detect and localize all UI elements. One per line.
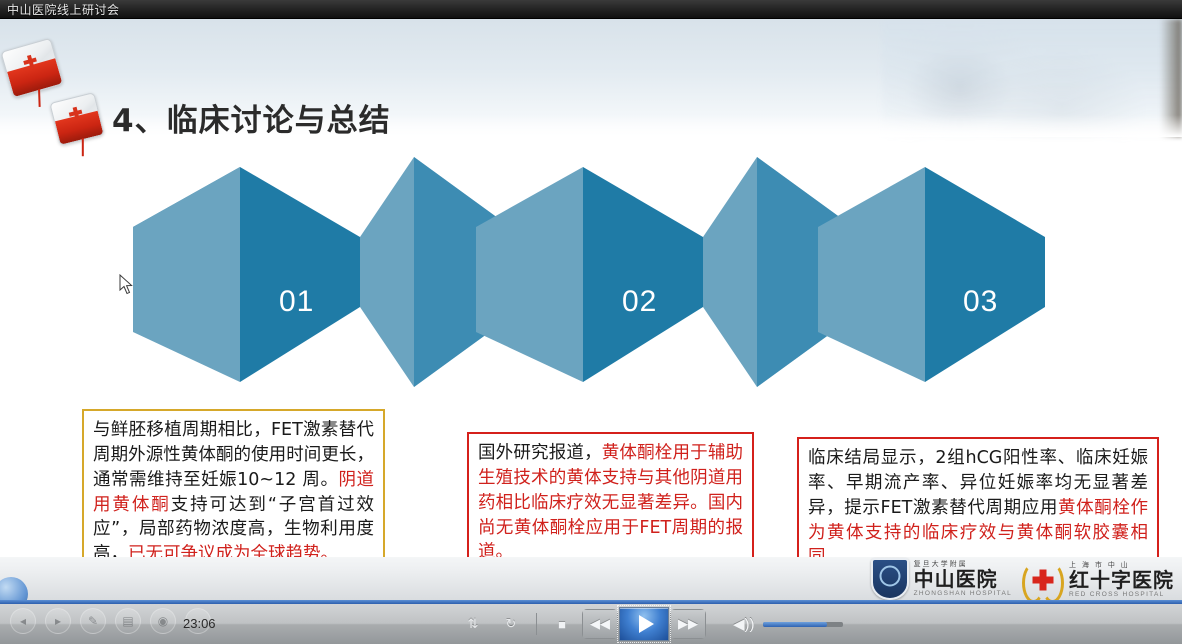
chevron-number-03: 03: [963, 285, 998, 319]
player-left-buttons: ◂ ▸ ✎ ▤ ◉: [10, 608, 211, 634]
header-photo-edge: [1160, 19, 1182, 137]
transport-group: ◀◀: [582, 609, 618, 639]
forward-icon[interactable]: ▸: [45, 608, 71, 634]
volume-slider-fill: [763, 622, 827, 627]
media-player-window: 中山医院线上研讨会 4、临床讨论与总结: [0, 0, 1182, 644]
playback-time: 23:06: [183, 616, 216, 631]
chevron-ribbon-graphic: 01 02 03: [0, 137, 1182, 387]
record-icon[interactable]: ◉: [150, 608, 176, 634]
wreath-icon: [1022, 560, 1064, 600]
slide-title: 4、临床讨论与总结: [112, 95, 391, 140]
player-toolbar: ◂ ▸ ✎ ▤ ◉ 23:06 ⇅ ↻ ■ ◀◀ ▶▶ ◀)): [0, 604, 1182, 644]
window-title: 中山医院线上研讨会: [0, 1, 120, 18]
shuffle-icon[interactable]: ⇅: [455, 609, 491, 639]
logo-2-main: 红十字医院: [1069, 570, 1174, 590]
chevron-2-left-wing: [476, 167, 583, 382]
logo-2-sub: RED CROSS HOSPITAL: [1069, 592, 1174, 599]
transport-group-right: ▶▶: [670, 609, 706, 639]
rewind-button[interactable]: ◀◀: [582, 609, 618, 639]
toolbar-divider: [536, 613, 537, 635]
header-background-photo: [882, 19, 1182, 137]
chevron-number-01: 01: [279, 285, 314, 319]
window-title-bar: 中山医院线上研讨会: [0, 0, 1182, 19]
red-cross-icon: [1033, 570, 1054, 591]
chevron-2-dark: [583, 167, 703, 382]
decorative-orb: [0, 577, 28, 601]
slide-footer-logo-bar: 复旦大学附属 中山医院 ZHONGSHAN HOSPITAL 上 海 市 中 山…: [0, 557, 1182, 601]
zhongshan-hospital-logo: 复旦大学附属 中山医院 ZHONGSHAN HOSPITAL: [871, 558, 1012, 600]
shield-icon: [871, 558, 909, 600]
play-icon: [639, 615, 654, 633]
play-button[interactable]: [619, 607, 669, 641]
chevron-1-left-wing: [133, 167, 240, 382]
logo-1-main: 中山医院: [914, 569, 1012, 589]
chevron-3-dark: [925, 167, 1045, 382]
fast-forward-button[interactable]: ▶▶: [670, 609, 706, 639]
hospital-logos: 复旦大学附属 中山医院 ZHONGSHAN HOSPITAL 上 海 市 中 山…: [871, 558, 1174, 600]
chevron-1-dark: [240, 167, 360, 382]
transport-controls: ⇅ ↻ ■ ◀◀ ▶▶: [455, 607, 706, 641]
logo-1-sub: ZHONGSHAN HOSPITAL: [914, 591, 1012, 598]
volume-icon[interactable]: ◀)): [733, 615, 755, 633]
save-icon[interactable]: ▤: [115, 608, 141, 634]
edit-icon[interactable]: ✎: [80, 608, 106, 634]
presentation-slide: 4、临床讨论与总结 01: [0, 19, 1182, 601]
back-icon[interactable]: ◂: [10, 608, 36, 634]
repeat-icon[interactable]: ↻: [493, 609, 529, 639]
volume-slider[interactable]: [763, 622, 843, 627]
chevron-3-left-wing: [818, 167, 925, 382]
stop-button[interactable]: ■: [544, 609, 580, 639]
chevron-number-02: 02: [622, 285, 657, 319]
red-cross-hospital-logo: 上 海 市 中 山 红十字医院 RED CROSS HOSPITAL: [1022, 560, 1174, 600]
